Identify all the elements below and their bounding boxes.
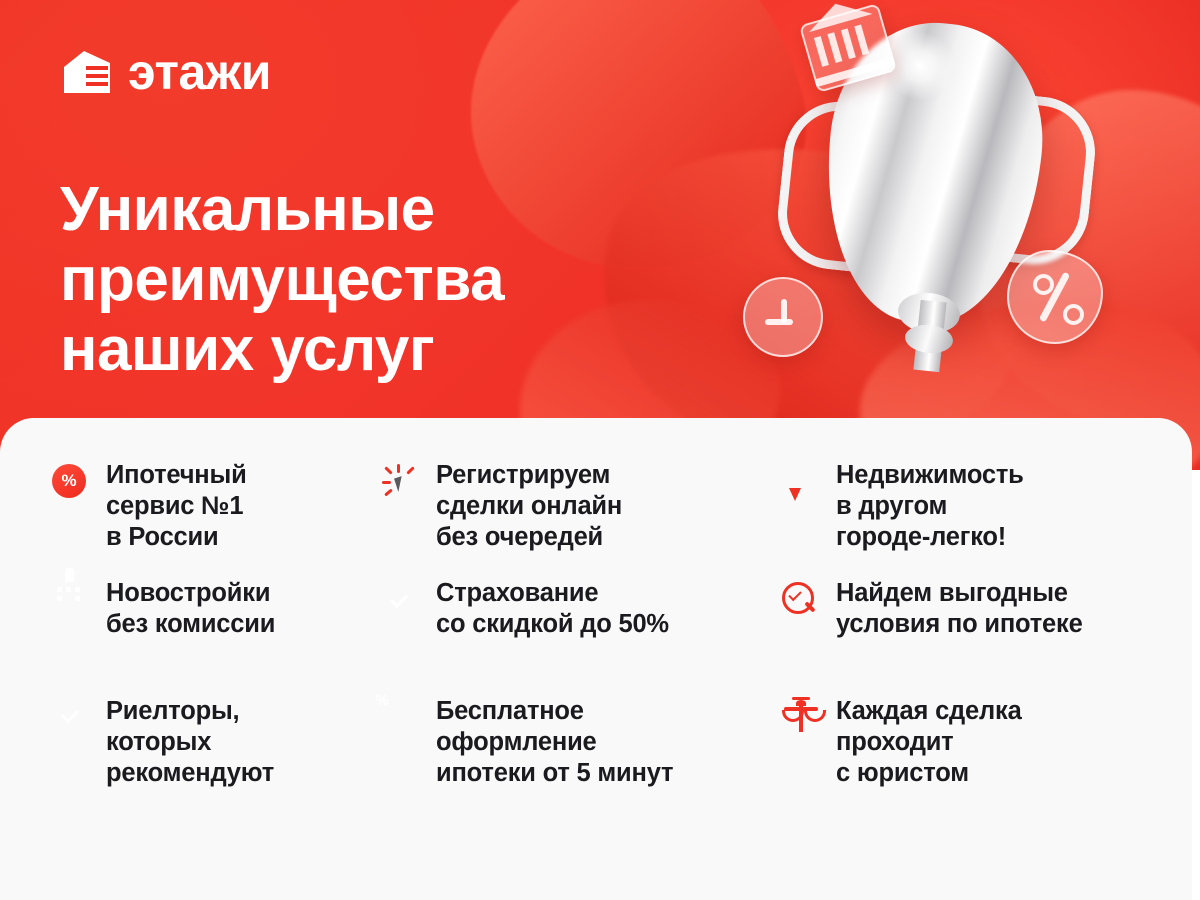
feature-item: Каждая сделка проходит с юристом	[782, 696, 1152, 814]
percent-circle-icon: %	[52, 464, 88, 504]
scales-justice-icon	[782, 700, 818, 740]
percent-badge-glass-icon	[1007, 250, 1103, 344]
feature-item: % Бесплатное оформление ипотеки от 5 мин…	[382, 696, 782, 814]
feature-item: Страхование со скидкой до 50%	[382, 578, 782, 696]
trophy-highlight	[885, 31, 955, 101]
features-grid: % Ипотечный сервис №1 в России Реги	[52, 460, 1152, 814]
shield-check-icon	[382, 582, 418, 622]
map-pin-icon	[782, 464, 818, 504]
feature-item: Недвижимость в другом городе-легко!	[782, 460, 1152, 578]
headline-line-3: наших услуг	[60, 315, 700, 385]
building-floors-icon	[62, 49, 112, 95]
building-icon	[52, 582, 88, 622]
silver-trophy-illustration	[735, 5, 1155, 425]
feature-item: Новостройки без комиссии	[52, 578, 382, 696]
headline-line-2: преимущества	[60, 245, 700, 315]
features-card: % Ипотечный сервис №1 в России Реги	[0, 418, 1192, 900]
brand-logo[interactable]: этажи	[62, 47, 271, 97]
check-circle-icon	[52, 700, 88, 740]
percent-badge-icon: %	[382, 700, 418, 740]
brand-name: этажи	[128, 47, 271, 97]
promo-banner: этажи Уникальные преимущества наших услу…	[0, 0, 1200, 900]
clock-glass-icon	[743, 277, 823, 357]
feature-label: Риелторы, которых рекомендуют	[106, 696, 274, 789]
page-title: Уникальные преимущества наших услуг	[60, 175, 700, 385]
feature-item: % Ипотечный сервис №1 в России	[52, 460, 382, 578]
feature-label: Найдем выгодные условия по ипотеке	[836, 578, 1083, 640]
feature-label: Регистрируем сделки онлайн без очередей	[436, 460, 622, 553]
search-check-icon	[782, 582, 818, 622]
feature-label: Ипотечный сервис №1 в России	[106, 460, 247, 553]
feature-label: Новостройки без комиссии	[106, 578, 275, 640]
feature-item: Найдем выгодные условия по ипотеке	[782, 578, 1152, 696]
click-cursor-icon	[382, 464, 418, 504]
hero-section: этажи Уникальные преимущества наших услу…	[0, 0, 1200, 470]
feature-label: Каждая сделка проходит с юристом	[836, 696, 1022, 789]
feature-item: Риелторы, которых рекомендуют	[52, 696, 382, 814]
feature-label: Недвижимость в другом городе-легко!	[836, 460, 1024, 553]
feature-item: Регистрируем сделки онлайн без очередей	[382, 460, 782, 578]
headline-line-1: Уникальные	[60, 175, 700, 245]
feature-label: Страхование со скидкой до 50%	[436, 578, 669, 640]
feature-label: Бесплатное оформление ипотеки от 5 минут	[436, 696, 673, 789]
